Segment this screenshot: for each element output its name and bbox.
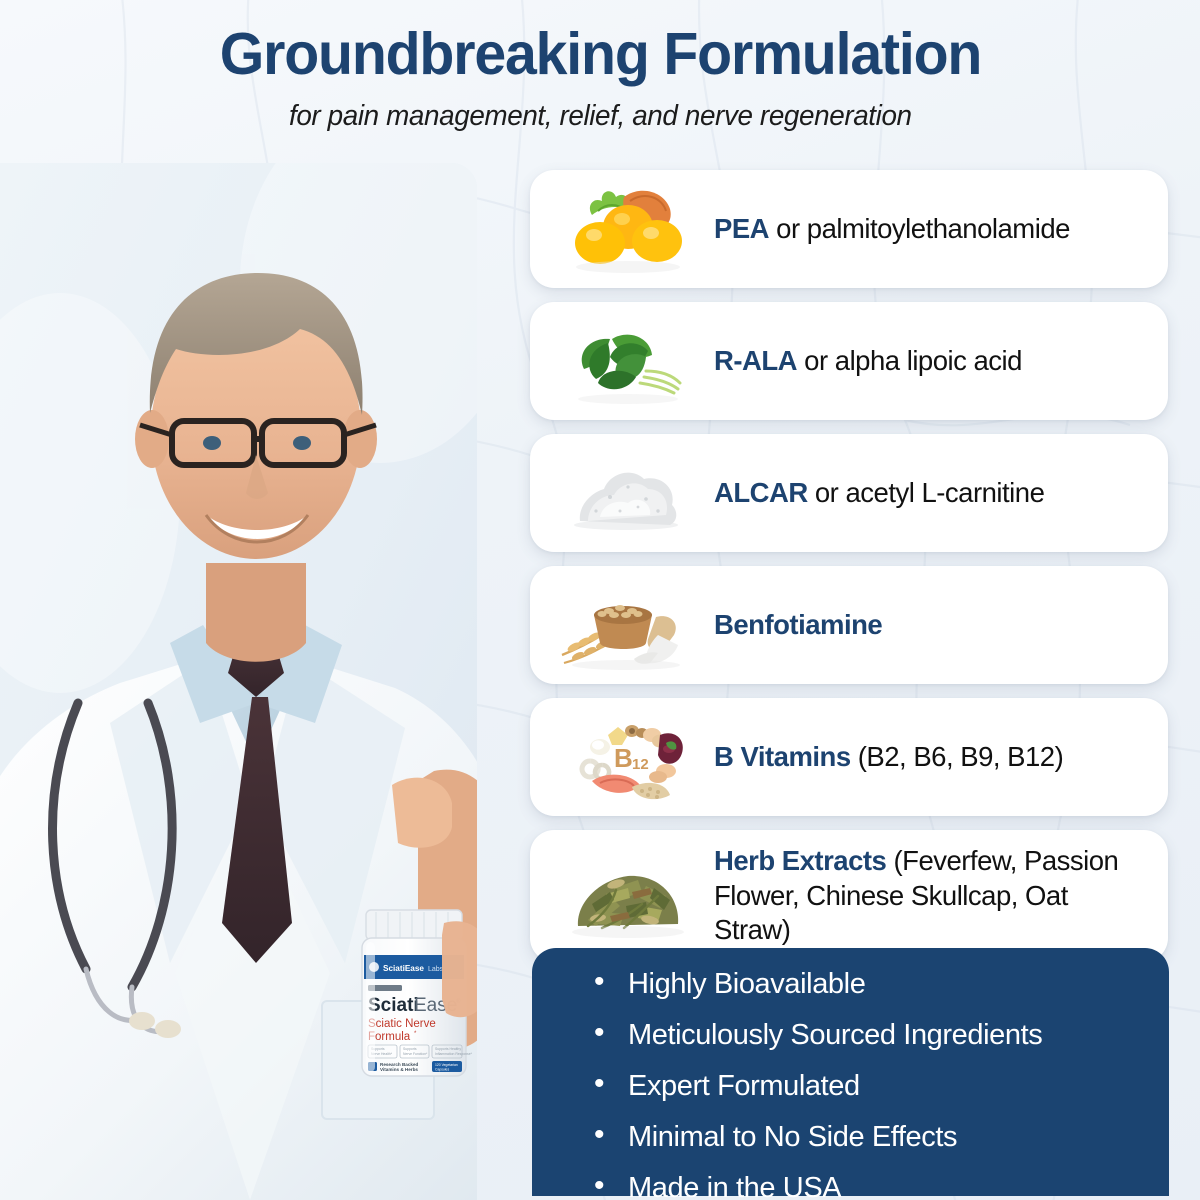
ingredient-detail: (B2, B6, B9, B12)	[851, 741, 1064, 772]
ingredient-label: Herb Extracts (Feverfew, Passion Flower,…	[714, 844, 1158, 947]
benefit-item: Meticulously Sourced Ingredients	[590, 1021, 1169, 1050]
ingredient-card-herb-extracts[interactable]: Herb Extracts (Feverfew, Passion Flower,…	[530, 830, 1168, 962]
svg-text:Supports Healthy: Supports Healthy	[435, 1047, 461, 1051]
b12-foods-icon: B 12	[544, 698, 714, 816]
ingredient-label: PEA or palmitoylethanolamide	[714, 212, 1158, 246]
ingredient-detail: or acetyl L-carnitine	[808, 477, 1045, 508]
svg-text:Nerve Function*: Nerve Function*	[403, 1052, 428, 1056]
doctor-photo-illustration: SciatiEase Labs Sciati Ease ® Sciatic Ne…	[0, 163, 477, 1200]
ingredient-name: PEA	[714, 213, 769, 244]
ingredient-name: ALCAR	[714, 477, 808, 508]
ingredient-name: B Vitamins	[714, 741, 851, 772]
ingredient-label: R-ALA or alpha lipoic acid	[714, 344, 1158, 378]
ingredient-name: R-ALA	[714, 345, 797, 376]
svg-text:Vitamins & Herbs: Vitamins & Herbs	[380, 1067, 418, 1072]
b12-label: B	[614, 743, 633, 773]
grain-bowl-icon	[544, 566, 714, 684]
svg-text:Capsules: Capsules	[435, 1067, 449, 1071]
ingredient-card-list: PEA or palmitoylethanolamide	[530, 170, 1168, 976]
benefits-panel: Highly Bioavailable Meticulously Sourced…	[532, 948, 1169, 1196]
ingredient-card-b-vitamins[interactable]: B 12 B Vitamins (B2, B6, B9, B12)	[530, 698, 1168, 816]
svg-text:SciatiEase: SciatiEase	[383, 964, 424, 973]
egg-yolks-icon	[544, 170, 714, 288]
ingredient-card-alcar[interactable]: ALCAR or acetyl L-carnitine	[530, 434, 1168, 552]
ingredient-card-benfotiamine[interactable]: Benfotiamine	[530, 566, 1168, 684]
svg-text:Sciatic Nerve: Sciatic Nerve	[368, 1018, 436, 1030]
ingredient-card-rala[interactable]: R-ALA or alpha lipoic acid	[530, 302, 1168, 420]
ingredient-detail: or palmitoylethanolamide	[769, 213, 1070, 244]
svg-text:12: 12	[632, 756, 649, 773]
infographic-page: Groundbreaking Formulation for pain mana…	[0, 0, 1200, 1200]
header: Groundbreaking Formulation for pain mana…	[0, 0, 1200, 160]
ingredient-label: Benfotiamine	[714, 608, 1158, 642]
page-subtitle: for pain management, relief, and nerve r…	[289, 100, 912, 133]
ingredient-detail: or alpha lipoic acid	[797, 345, 1022, 376]
svg-text:Labs: Labs	[428, 966, 444, 973]
svg-text:Supports: Supports	[403, 1047, 417, 1051]
benefit-item: Minimal to No Side Effects	[590, 1123, 1169, 1152]
dried-herbs-icon	[544, 830, 714, 962]
svg-text:Inflammation Response*: Inflammation Response*	[435, 1052, 473, 1056]
benefit-item: Made in the USA	[590, 1174, 1169, 1200]
ingredient-name: Benfotiamine	[714, 609, 882, 640]
spinach-icon	[544, 302, 714, 420]
doctor-photo: SciatiEase Labs Sciati Ease ® Sciatic Ne…	[0, 163, 477, 1200]
benefit-item: Highly Bioavailable	[590, 970, 1169, 999]
ingredient-card-pea[interactable]: PEA or palmitoylethanolamide	[530, 170, 1168, 288]
ingredient-name: Herb Extracts	[714, 845, 886, 876]
benefits-list: Highly Bioavailable Meticulously Sourced…	[590, 970, 1169, 1200]
benefit-item: Expert Formulated	[590, 1072, 1169, 1101]
ingredient-label: B Vitamins (B2, B6, B9, B12)	[714, 740, 1158, 774]
svg-text:Sciati: Sciati	[368, 995, 419, 1016]
ingredient-label: ALCAR or acetyl L-carnitine	[714, 476, 1158, 510]
page-title: Groundbreaking Formulation	[219, 24, 980, 86]
white-powder-icon	[544, 434, 714, 552]
